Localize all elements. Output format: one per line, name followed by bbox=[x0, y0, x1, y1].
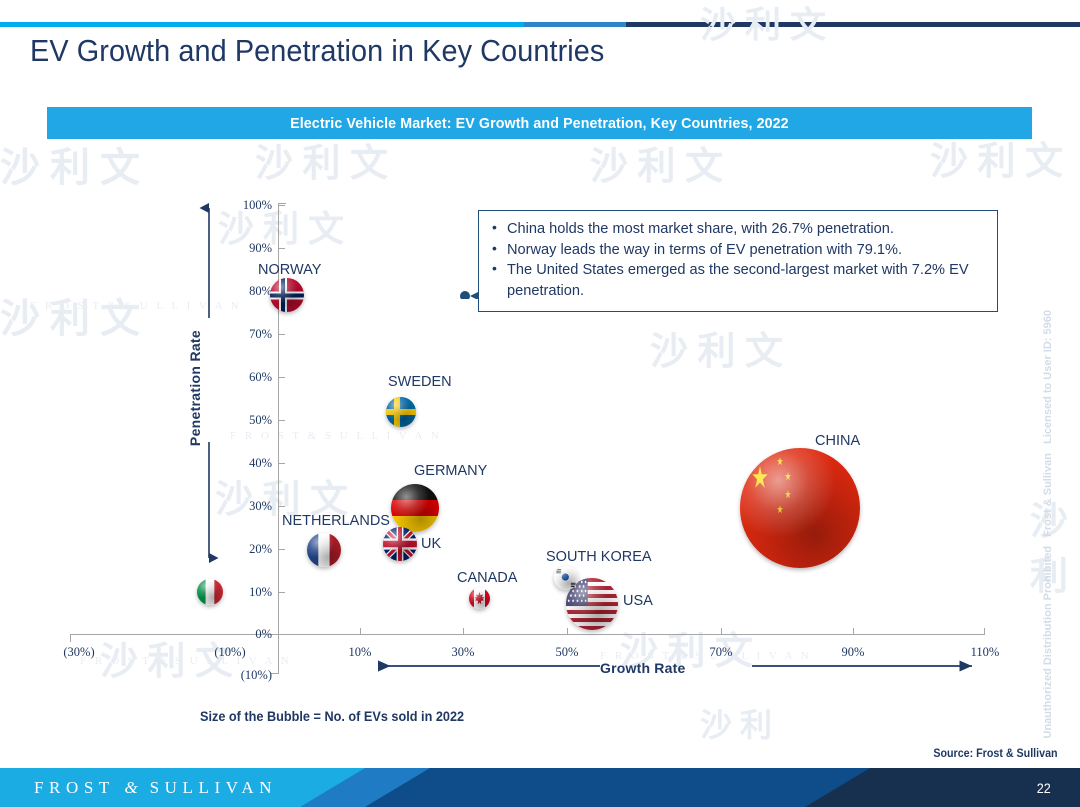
bubble-sweden[interactable] bbox=[386, 397, 416, 427]
x-tick-10 bbox=[360, 628, 361, 635]
x-tick-30 bbox=[463, 628, 464, 635]
y-label-80: 80% bbox=[228, 284, 272, 299]
bubble-gloss bbox=[383, 527, 417, 561]
x-axis-right-cap bbox=[984, 628, 985, 635]
footer-brand-ampersand: & bbox=[124, 778, 139, 797]
y-label-70: 70% bbox=[228, 327, 272, 342]
bubble-label-netherlands: NETHERLANDS bbox=[282, 513, 390, 529]
bubble-netherlands[interactable] bbox=[307, 533, 341, 567]
source-note: Source: Frost & Sullivan bbox=[934, 748, 1058, 760]
insight-item-1: China holds the most market share, with … bbox=[507, 219, 987, 240]
insight-item-3: The United States emerged as the second-… bbox=[507, 260, 987, 301]
footer-brand-sullivan: SULLIVAN bbox=[150, 778, 278, 797]
bubble-size-note: Size of the Bubble = No. of EVs sold in … bbox=[200, 709, 464, 724]
bubble-label-sweden: SWEDEN bbox=[388, 374, 452, 390]
x-axis-title: Growth Rate bbox=[600, 660, 685, 676]
x-axis-line bbox=[278, 634, 985, 635]
bubble-label-germany: GERMANY bbox=[414, 463, 487, 479]
bubble-label-norway: NORWAY bbox=[258, 262, 321, 278]
bubble-gloss bbox=[391, 484, 439, 532]
x-label-negative-30: (30%) bbox=[44, 645, 114, 660]
bubble-gloss bbox=[307, 533, 341, 567]
bubble-gloss bbox=[386, 397, 416, 427]
insights-list: China holds the most market share, with … bbox=[485, 219, 987, 302]
y-axis-top-cap bbox=[278, 203, 286, 204]
y-axis-below-zero-cap bbox=[271, 673, 279, 674]
y-tick-90 bbox=[278, 248, 285, 249]
y-axis-below-zero bbox=[278, 634, 279, 674]
y-label-10: 10% bbox=[228, 585, 272, 600]
y-tick-70 bbox=[278, 334, 285, 335]
y-tick-40 bbox=[278, 463, 285, 464]
bubble-uk[interactable] bbox=[383, 527, 417, 561]
bubble-label-south-korea: SOUTH KOREA bbox=[546, 549, 652, 565]
x-tick-50 bbox=[567, 628, 568, 635]
license-line-3: Unauthorized Distribution Prohibited bbox=[1042, 546, 1054, 739]
bubble-norway[interactable] bbox=[270, 278, 304, 312]
x-axis-left-cap bbox=[70, 634, 71, 642]
bubble-china[interactable] bbox=[740, 448, 860, 568]
bubble-gloss bbox=[469, 588, 490, 609]
y-label-60: 60% bbox=[228, 370, 272, 385]
insight-item-2: Norway leads the way in terms of EV pene… bbox=[507, 240, 987, 261]
bubble-south-korea[interactable] bbox=[554, 566, 578, 590]
x-label-negative-10: (10%) bbox=[195, 645, 265, 660]
y-tick-50 bbox=[278, 420, 285, 421]
y-tick-30 bbox=[278, 506, 285, 507]
y-tick-20 bbox=[278, 549, 285, 550]
footer-brand-frost: FROST bbox=[34, 778, 115, 797]
bubble-gloss bbox=[740, 448, 860, 568]
y-label-100: 100% bbox=[228, 198, 272, 213]
bubble-label-china: CHINA bbox=[815, 433, 860, 449]
y-tick-100 bbox=[278, 205, 285, 206]
bubble-italy[interactable] bbox=[197, 579, 223, 605]
y-label-50: 50% bbox=[228, 413, 272, 428]
watermark-chinese-13: 沙 利 bbox=[700, 700, 772, 746]
y-label-0: 0% bbox=[228, 627, 272, 642]
bubble-gloss bbox=[270, 278, 304, 312]
bubble-label-usa: USA bbox=[623, 593, 653, 609]
callout-leader-line bbox=[460, 289, 478, 299]
x-tick-90 bbox=[853, 628, 854, 635]
bubble-germany[interactable] bbox=[391, 484, 439, 532]
bubble-gloss bbox=[554, 566, 578, 590]
y-axis-title: Penetration Rate bbox=[187, 330, 203, 446]
bubble-canada[interactable] bbox=[469, 588, 490, 609]
y-label-40: 40% bbox=[228, 456, 272, 471]
insights-callout: China holds the most market share, with … bbox=[478, 210, 998, 312]
bubble-label-canada: CANADA bbox=[457, 570, 517, 586]
footer-brand: FROST & SULLIVAN bbox=[34, 778, 277, 798]
bubble-gloss bbox=[197, 579, 223, 605]
y-tick-10 bbox=[278, 592, 285, 593]
y-label-20: 20% bbox=[228, 542, 272, 557]
y-label-30: 30% bbox=[228, 499, 272, 514]
x-tick-70 bbox=[721, 628, 722, 635]
page-number: 22 bbox=[1037, 780, 1051, 796]
y-label-90: 90% bbox=[228, 241, 272, 256]
y-tick-60 bbox=[278, 377, 285, 378]
y-label-negative-10: (10%) bbox=[215, 668, 272, 683]
bubble-label-uk: UK bbox=[421, 536, 441, 552]
